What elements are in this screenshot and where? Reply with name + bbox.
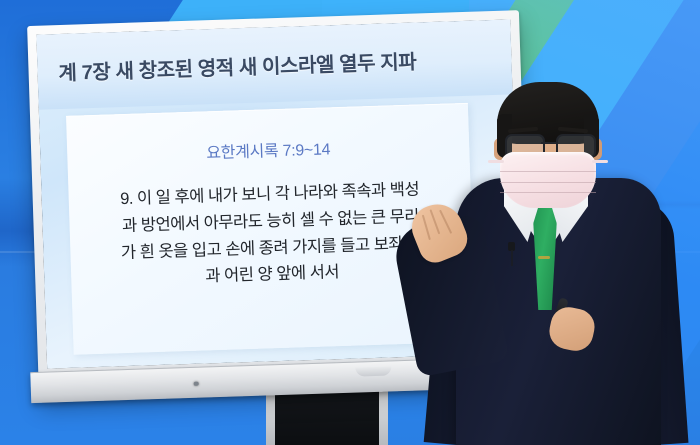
presenter-necktie-emblem [538, 256, 550, 259]
face-mask-fold [500, 182, 596, 183]
finger-line [429, 209, 439, 234]
face-mask-strap-right [592, 160, 608, 163]
presenter [398, 96, 700, 445]
slide-title: 계 7장 새 창조된 영적 새 이스라엘 열두 지파 [58, 46, 417, 87]
face-mask-fold [500, 192, 596, 193]
lapel-microphone-wire [511, 250, 513, 266]
eyeglass-bridge [541, 142, 558, 144]
finger-line [422, 215, 431, 240]
face-mask-fold [500, 171, 596, 172]
display-stand-rail-right [379, 383, 388, 445]
finger-line [439, 210, 452, 234]
ir-sensor-icon [193, 381, 198, 385]
display-brand-badge [355, 367, 391, 377]
face-mask-strap-left [488, 160, 504, 163]
photo-scene: 계 7장 새 창조된 영적 새 이스라엘 열두 지파 요한계시록 7:9~14 … [0, 0, 700, 445]
face-mask-icon [500, 152, 596, 208]
